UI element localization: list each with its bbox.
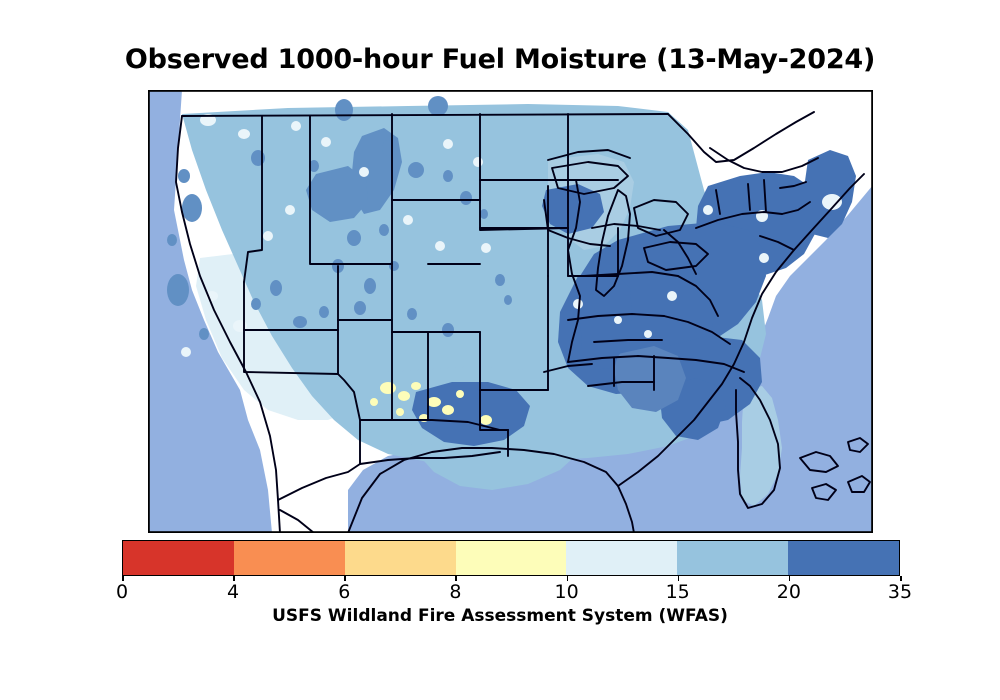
colorbar[interactable] [122,540,900,576]
colorbar-tick-label-7: 35 [888,581,912,603]
colorbar-tick-label-3: 8 [449,581,461,603]
choropleth-map [148,90,873,533]
colorbar-band-8-10 [456,541,567,575]
map-plot-area[interactable] [148,90,873,533]
colorbar-bands [122,540,900,576]
figure-canvas: Observed 1000-hour Fuel Moisture (13-May… [0,0,1000,700]
colorbar-tick-label-2: 6 [338,581,350,603]
colorbar-tick-label-5: 15 [666,581,690,603]
colorbar-band-15-20 [677,541,788,575]
colorbar-tick-label-0: 0 [116,581,128,603]
colorbar-tick-label-1: 4 [227,581,239,603]
colorbar-band-6-8 [345,541,456,575]
colorbar-tick-label-6: 20 [777,581,801,603]
colorbar-tick-label-4: 10 [555,581,579,603]
colorbar-band-20-35 [788,541,899,575]
colorbar-tick-axis: 0 4 6 8 10 15 20 35 [122,576,900,602]
colorbar-band-4-6 [234,541,345,575]
colorbar-axis-label: USFS Wildland Fire Assessment System (WF… [0,606,1000,626]
colorbar-band-10-15 [566,541,677,575]
page-title: Observed 1000-hour Fuel Moisture (13-May… [0,44,1000,75]
colorbar-band-0-4 [123,541,234,575]
